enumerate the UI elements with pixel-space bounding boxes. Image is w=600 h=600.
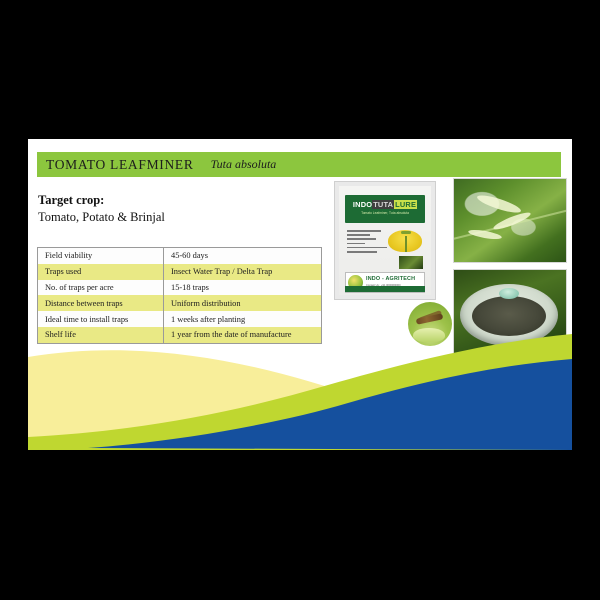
- lure-cap-icon: [401, 231, 411, 234]
- target-crop-label: Target crop:: [38, 192, 165, 209]
- table-cell-value: Uniform distribution: [164, 295, 322, 311]
- scientific-name: Tuta absoluta: [194, 157, 277, 172]
- table-cell-key: Field viability: [38, 248, 164, 264]
- leaf-damage-photo: [453, 178, 567, 263]
- table-row: Distance between trapsUniform distributi…: [38, 295, 322, 311]
- table-cell-key: Distance between traps: [38, 295, 164, 311]
- screenshot-stage: TOMATO LEAFMINER Tuta absoluta Target cr…: [0, 0, 600, 600]
- table-row: No. of traps per acre15-18 traps: [38, 280, 322, 296]
- table-cell-value: 15-18 traps: [164, 280, 322, 296]
- pack-header-band: INDOTUTALURE Tomato Leafminer, Tuta abso…: [345, 195, 425, 223]
- table-cell-value: 45-60 days: [164, 248, 322, 264]
- pack-body: INDOTUTALURE Tomato Leafminer, Tuta abso…: [339, 186, 431, 295]
- pack-spec-text-lines: [347, 230, 389, 255]
- pack-brand-subtitle: Tomato Leafminer, Tuta absoluta: [345, 211, 425, 215]
- product-pack-photo: INDOTUTALURE Tomato Leafminer, Tuta abso…: [334, 181, 436, 300]
- leaf-mine-shape: [476, 192, 523, 216]
- header-title-bar: TOMATO LEAFMINER Tuta absoluta: [37, 152, 561, 177]
- pack-brand-tuta: TUTA: [372, 200, 394, 209]
- pack-footer-band: [345, 286, 425, 292]
- page-title: TOMATO LEAFMINER: [37, 157, 194, 173]
- table-row: Traps usedInsect Water Trap / Delta Trap: [38, 264, 322, 280]
- pack-brand-lure: LURE: [394, 200, 417, 209]
- product-brochure-card: TOMATO LEAFMINER Tuta absoluta Target cr…: [28, 139, 572, 450]
- target-crop-block: Target crop: Tomato, Potato & Brinjal: [38, 192, 165, 226]
- target-crop-value: Tomato, Potato & Brinjal: [38, 209, 165, 226]
- table-cell-key: No. of traps per acre: [38, 280, 164, 296]
- leaf-mine-shape: [468, 228, 503, 241]
- company-name: INDO - AGRITECH: [366, 276, 415, 282]
- pack-brand-indo: INDO: [353, 200, 372, 209]
- table-cell-key: Traps used: [38, 264, 164, 280]
- table-row: Field viability45-60 days: [38, 248, 322, 264]
- table-cell-value: Insect Water Trap / Delta Trap: [164, 264, 322, 280]
- moth-body-shape: [416, 313, 444, 324]
- lure-stem-icon: [405, 236, 407, 252]
- pack-inset-photo: [399, 256, 423, 269]
- trap-lure-disc-shape: [499, 288, 519, 299]
- pack-brand-lockup: INDOTUTALURE: [345, 200, 425, 209]
- decorative-wave-footer: [28, 325, 572, 450]
